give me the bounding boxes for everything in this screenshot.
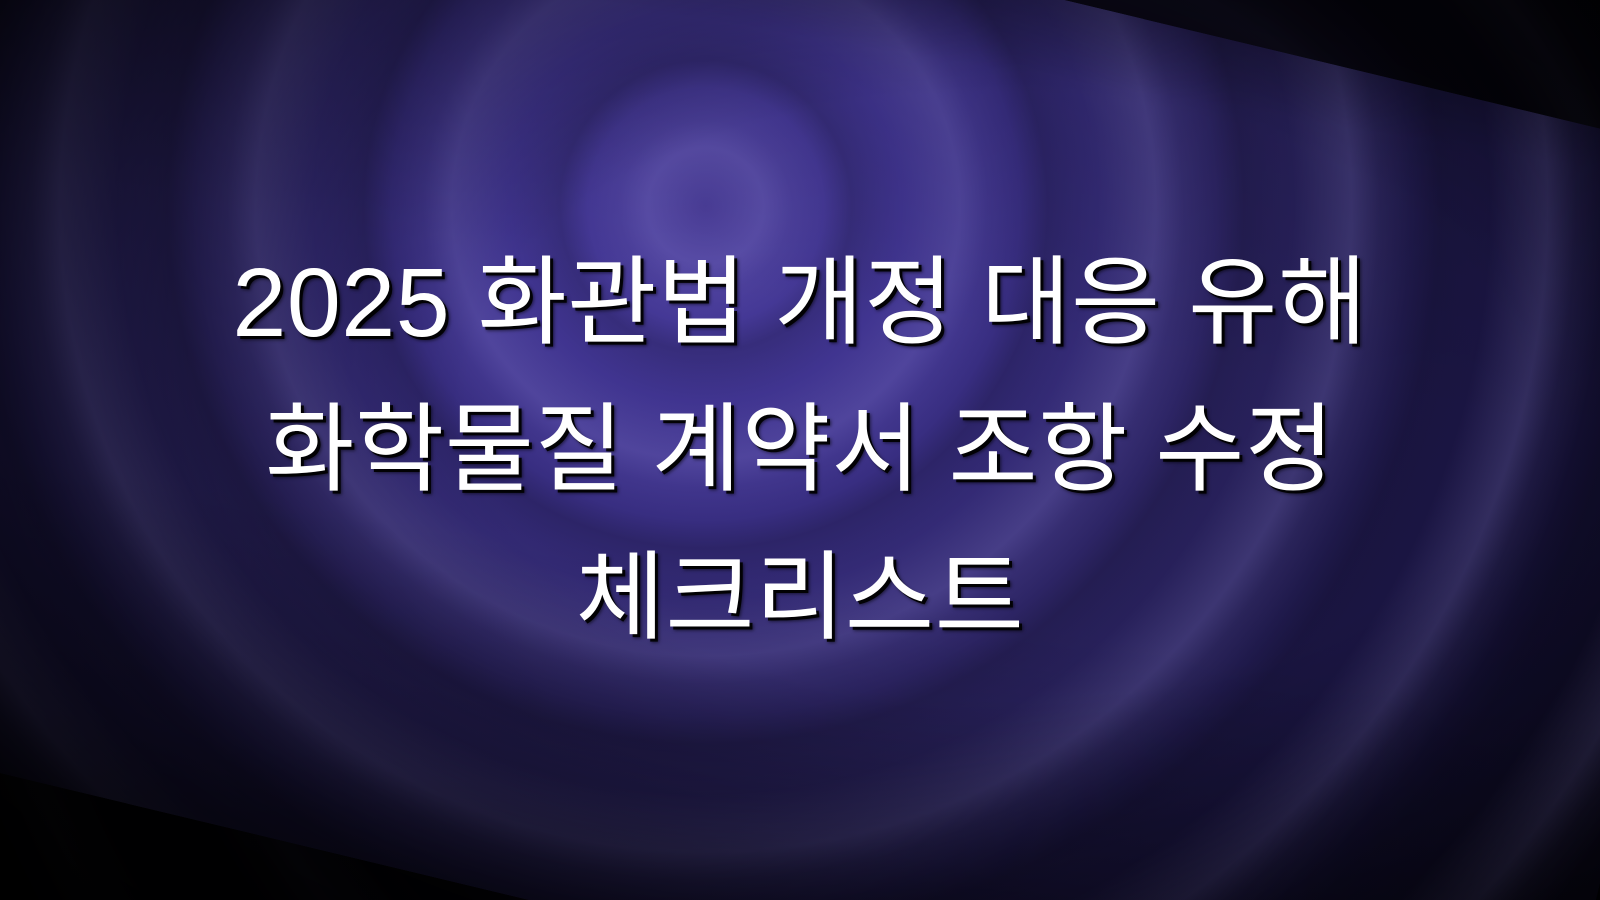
title-block: 2025 화관법 개정 대응 유해 화학물질 계약서 조항 수정 체크리스트	[0, 0, 1600, 900]
title-line-3: 체크리스트	[576, 524, 1025, 671]
title-slide: 2025 화관법 개정 대응 유해 화학물질 계약서 조항 수정 체크리스트	[0, 0, 1600, 900]
title-line-2: 화학물질 계약서 조항 수정	[265, 376, 1335, 523]
title-line-1: 2025 화관법 개정 대응 유해	[232, 229, 1367, 376]
